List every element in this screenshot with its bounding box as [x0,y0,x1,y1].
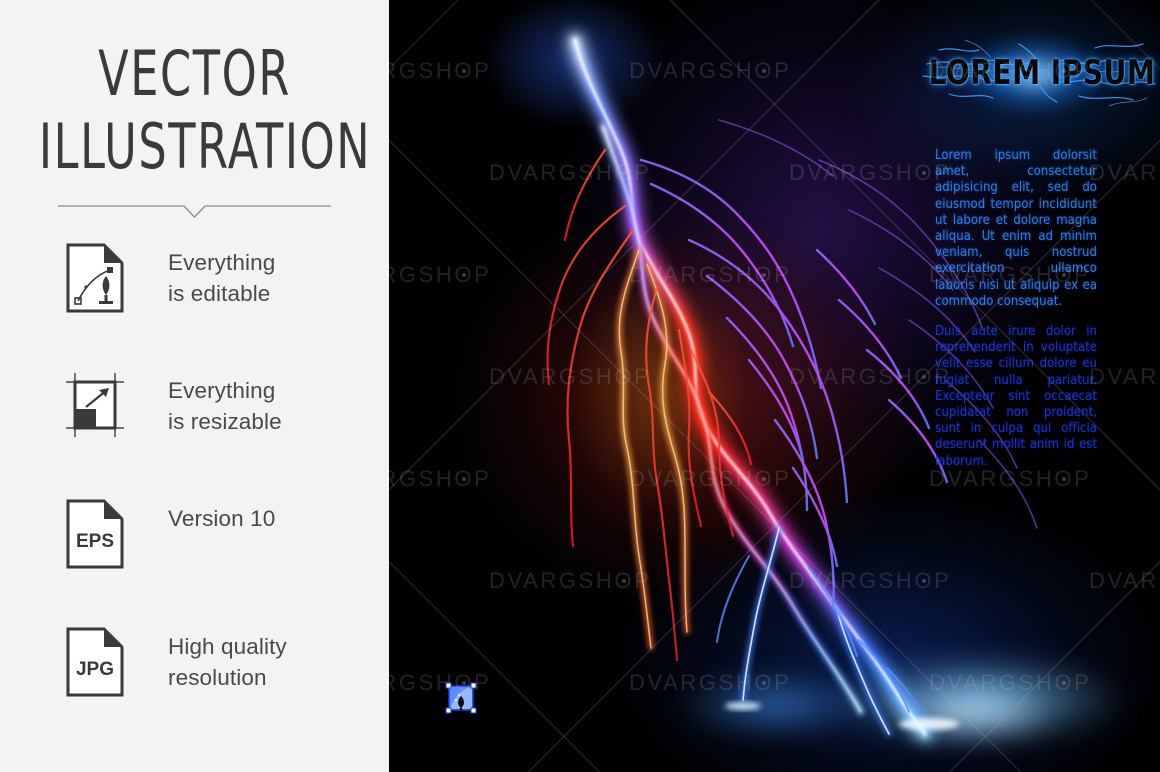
body-paragraph-2: Duis aute irure dolor in reprehenderit i… [935,324,1097,470]
feature-label-line1: Everything [168,375,383,406]
feature-item-quality: JPG High quality resolution [0,627,389,755]
resize-arrow-icon [66,371,124,441]
feature-item-editable: Everything is editable [0,243,389,371]
poster-canvas: VECTOR ILLUSTRATION [0,0,1160,772]
feature-label-resizable: Everything is resizable [168,375,383,437]
title-line-1: VECTOR [39,40,350,108]
eps-file-icon-text: EPS [76,531,114,552]
title-line-2: ILLUSTRATION [39,108,350,186]
artwork-panel: LOREM IPSUM Lorem ipsum dolorsit amet, c… [389,0,1160,772]
document-pen-tool-icon [66,243,124,313]
feature-list: Everything is editable [0,243,389,755]
body-copy: Lorem ipsum dolorsit amet, consectetur a… [935,148,1102,484]
jpg-file-icon-text: JPG [76,659,114,680]
feature-label-version: Version 10 [168,503,383,534]
lorem-ipsum-logo: LOREM IPSUM [919,28,1159,120]
feature-label-line2: is editable [168,278,383,309]
feature-label-quality: High quality resolution [168,631,383,693]
body-paragraph-1: Lorem ipsum dolorsit amet, consectetur a… [935,148,1097,310]
feature-label-line2: is resizable [168,406,383,437]
page-title: VECTOR ILLUSTRATION [0,40,389,186]
jpg-file-icon: JPG [66,627,124,697]
v-notch-divider [58,198,331,220]
vector-pen-badge-icon[interactable] [445,682,477,714]
feature-item-version: EPS Version 10 [0,499,389,627]
feature-item-resizable: Everything is resizable [0,371,389,499]
feature-label-editable: Everything is editable [168,247,383,309]
logo-text: LOREM IPSUM [929,54,1150,92]
feature-label-line2: resolution [168,662,383,693]
feature-label-line1: Version 10 [168,503,383,534]
left-info-panel: VECTOR ILLUSTRATION [0,0,389,772]
eps-file-icon: EPS [66,499,124,569]
feature-label-line1: High quality [168,631,383,662]
feature-label-line1: Everything [168,247,383,278]
